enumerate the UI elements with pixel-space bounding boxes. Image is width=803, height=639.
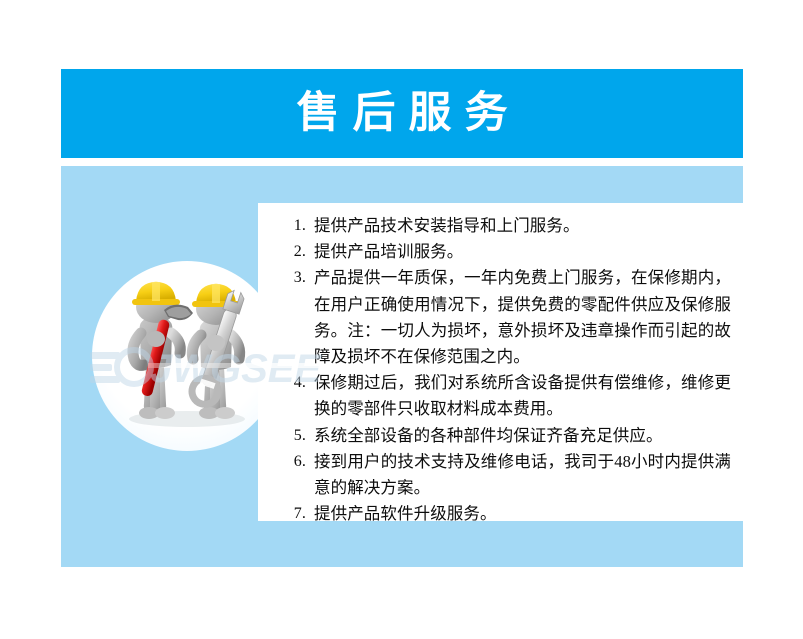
list-item: 系统全部设备的各种部件均保证齐备充足供应。 — [284, 423, 731, 449]
page-root: 售后服务 — [0, 0, 803, 639]
workers-illustration-icon — [92, 261, 282, 451]
service-illustration — [92, 261, 282, 451]
service-list-box: 提供产品技术安装指导和上门服务。 提供产品培训服务。 产品提供一年质保，一年内免… — [258, 203, 743, 521]
list-item: 产品提供一年质保，一年内免费上门服务，在保修期内，在用户正确使用情况下，提供免费… — [284, 265, 731, 370]
list-item: 接到用户的技术支持及维修电话，我司于48小时内提供满意的解决方案。 — [284, 449, 731, 501]
worker-right — [189, 284, 250, 420]
list-item: 提供产品软件升级服务。 — [284, 501, 731, 521]
page-title: 售后服务 — [284, 92, 521, 135]
list-item: 保修期过后，我们对系统所含设备提供有偿维修，维修更换的零部件只收取材料成本费用。 — [284, 370, 731, 422]
service-list: 提供产品技术安装指导和上门服务。 提供产品培训服务。 产品提供一年质保，一年内免… — [258, 203, 743, 521]
list-item: 提供产品培训服务。 — [284, 239, 731, 265]
list-item: 提供产品技术安装指导和上门服务。 — [284, 213, 731, 239]
header-banner: 售后服务 — [61, 69, 743, 158]
content-panel: 提供产品技术安装指导和上门服务。 提供产品培训服务。 产品提供一年质保，一年内免… — [61, 166, 743, 567]
worker-left — [132, 282, 193, 420]
